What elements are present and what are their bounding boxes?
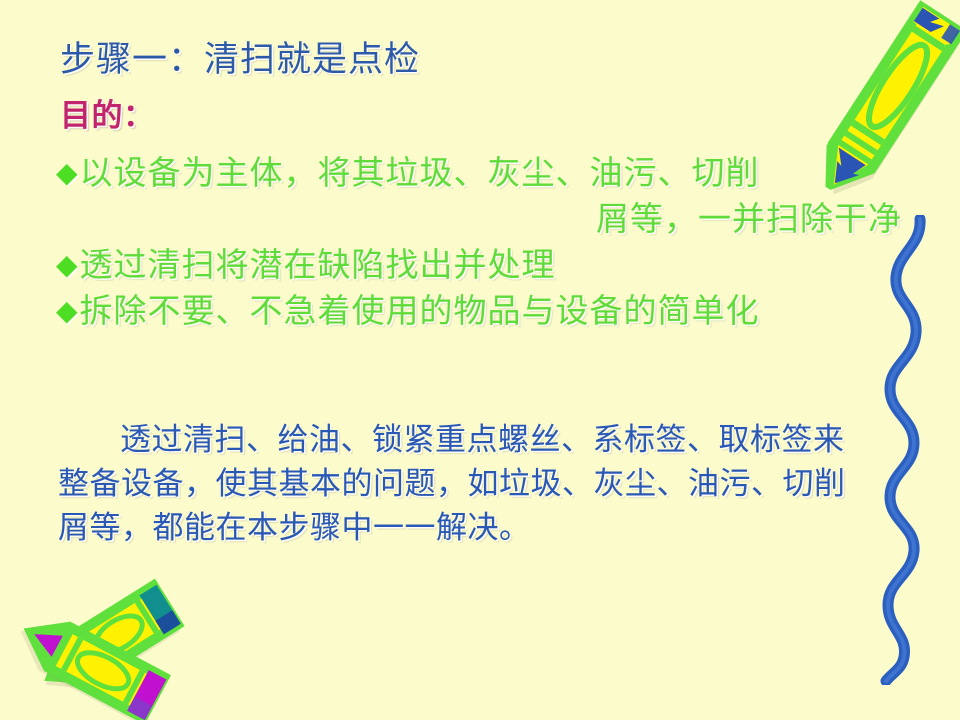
purpose-label: 目的： bbox=[60, 96, 155, 136]
bullet-item-label: 以设备为主体，将其垃圾、灰尘、油污、切削 bbox=[80, 153, 760, 192]
bullet-item: ◆拆除不要、不急着使用的物品与设备的简单化 bbox=[56, 288, 916, 334]
slide-canvas: 步骤一：清扫就是点检 目的： ◆以设备为主体，将其垃圾、灰尘、油污、切削 屑等，… bbox=[0, 0, 960, 720]
bullet-item: ◆以设备为主体，将其垃圾、灰尘、油污、切削 bbox=[56, 150, 916, 196]
body-paragraph: 透过清扫、给油、锁紧重点螺丝、系标签、取标签来整备设备，使其基本的问题，如垃圾、… bbox=[58, 418, 858, 550]
bullet-list: ◆以设备为主体，将其垃圾、灰尘、油污、切削 屑等，一并扫除干净 ◆透过清扫将潜在… bbox=[56, 150, 916, 334]
bullet-item: ◆透过清扫将潜在缺陷找出并处理 bbox=[56, 242, 916, 288]
slide-text-layer: 步骤一：清扫就是点检 目的： ◆以设备为主体，将其垃圾、灰尘、油污、切削 屑等，… bbox=[0, 0, 960, 720]
diamond-bullet-icon: ◆ bbox=[56, 150, 79, 196]
slide-title: 步骤一：清扫就是点检 bbox=[60, 38, 420, 82]
diamond-bullet-icon: ◆ bbox=[56, 288, 79, 334]
bullet-item-continuation: 屑等，一并扫除干净 bbox=[56, 196, 916, 242]
bullet-item-label: 透过清扫将潜在缺陷找出并处理 bbox=[80, 245, 556, 284]
diamond-bullet-icon: ◆ bbox=[56, 242, 79, 288]
bullet-item-label: 拆除不要、不急着使用的物品与设备的简单化 bbox=[80, 291, 760, 330]
